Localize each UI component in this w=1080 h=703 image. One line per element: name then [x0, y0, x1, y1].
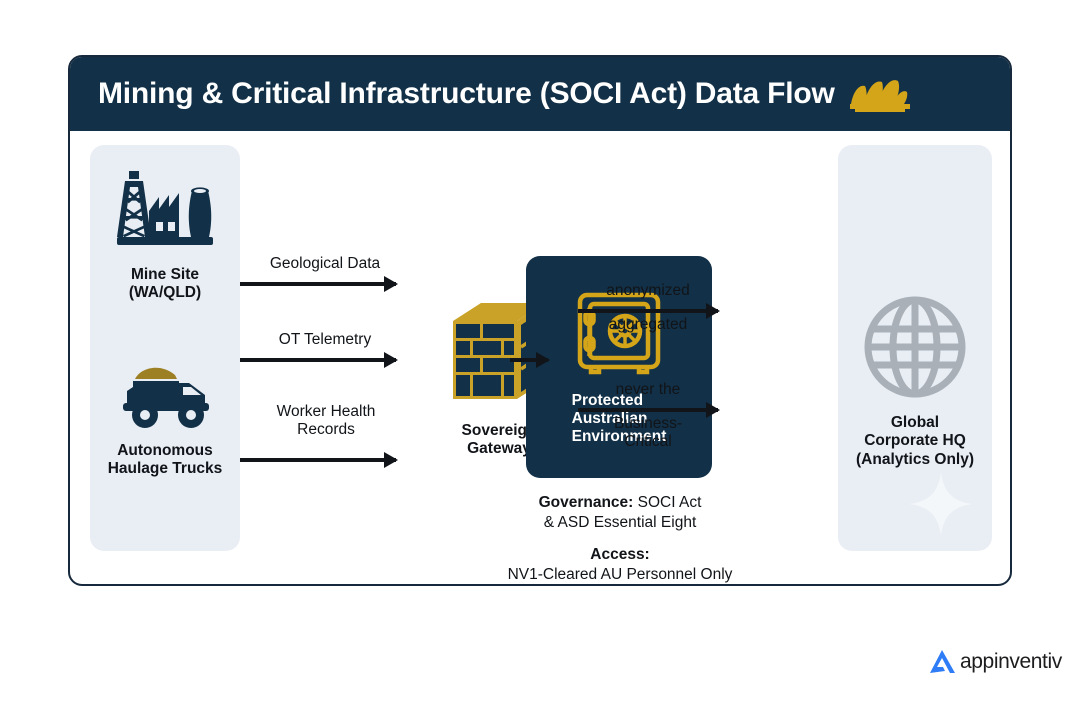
- flow-label-aggregated: aggregated: [570, 316, 726, 334]
- node-mine-site: Mine Site (WA/QLD): [90, 167, 240, 303]
- globe-icon: [859, 291, 971, 403]
- governance-block: Governance: SOCI Act & ASD Essential Eig…: [474, 493, 766, 586]
- appinventiv-logo-text: appinventiv: [960, 650, 1062, 674]
- flow-arrow-ot-telemetry: [240, 358, 396, 362]
- node-global-hq: Global Corporate HQ (Analytics Only): [838, 291, 992, 469]
- flow-arrow-gateway-to-protected: [510, 358, 548, 362]
- flow-label-geological-data: Geological Data: [240, 255, 410, 273]
- access-value: NV1-Cleared AU Personnel Only: [474, 565, 766, 585]
- flow-arrow-anonymized-aggregated: [578, 309, 718, 313]
- flow-label-never-the: never the: [570, 381, 726, 399]
- appinventiv-logo: appinventiv: [928, 648, 1062, 676]
- flow-label-business-critical: Business- Critical: [570, 415, 726, 452]
- node-haulage-trucks-label: Autonomous Haulage Trucks: [90, 442, 240, 479]
- page-title: Mining & Critical Infrastructure (SOCI A…: [98, 77, 835, 111]
- governance-label: Governance:: [539, 494, 634, 511]
- diagram-card: Mining & Critical Infrastructure (SOCI A…: [68, 55, 1012, 586]
- governance-line-1: Governance: SOCI Act: [474, 493, 766, 513]
- flow-label-worker-health-records: Worker Health Records: [238, 403, 414, 440]
- node-mine-site-label: Mine Site (WA/QLD): [90, 266, 240, 303]
- node-haulage-trucks: Autonomous Haulage Trucks: [90, 359, 240, 479]
- node-global-hq-label: Global Corporate HQ (Analytics Only): [838, 414, 992, 469]
- sparkle-icon: [908, 471, 974, 537]
- flow-label-anonymized: anonymized: [570, 282, 726, 300]
- flow-arrow-geological-data: [240, 282, 396, 286]
- diagram-header: Mining & Critical Infrastructure (SOCI A…: [70, 57, 1010, 131]
- appinventiv-a-mark-icon: [928, 648, 958, 676]
- diagram-body: Mine Site (WA/QLD) Autonomous Haulage Tr…: [70, 131, 1010, 586]
- flow-arrow-never-business-critical: [578, 408, 718, 412]
- governance-line-2: & ASD Essential Eight: [474, 513, 766, 533]
- dump-truck-icon: [109, 359, 221, 431]
- flow-arrow-worker-health-records: [240, 458, 396, 462]
- governance-value: SOCI Act: [633, 494, 701, 511]
- access-label: Access:: [474, 545, 766, 565]
- flow-label-ot-telemetry: OT Telemetry: [240, 331, 410, 349]
- sydney-opera-house-icon: [849, 74, 911, 114]
- mine-site-icon: [109, 167, 221, 255]
